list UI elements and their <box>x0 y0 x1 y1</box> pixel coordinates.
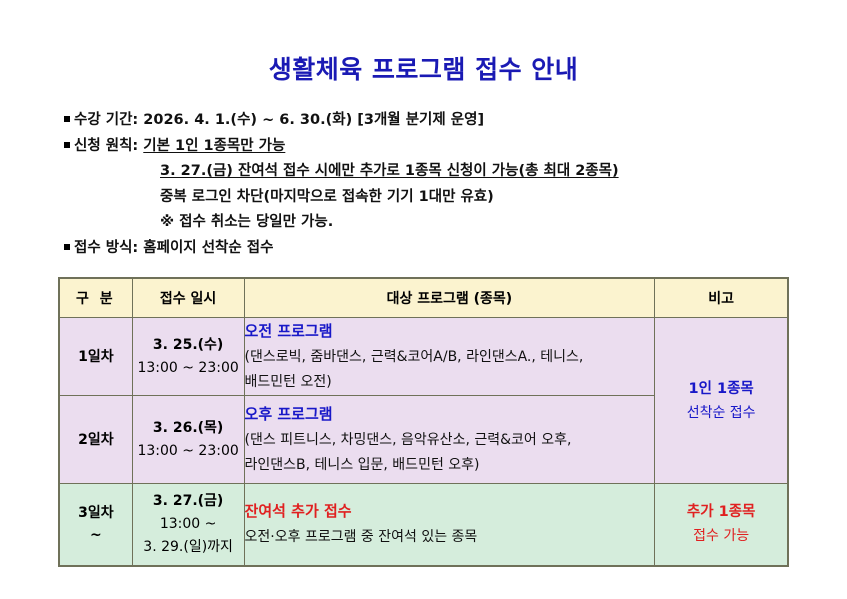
notice-line-period: 수강 기간: 2026. 4. 1.(수) ~ 6. 30.(화) [3개월 분… <box>64 108 784 134</box>
date-sub-day1: 13:00 ~ 23:00 <box>133 357 244 380</box>
cell-gubun-day1: 1일차 <box>59 318 132 396</box>
cell-gubun-day3: 3일차 ~ <box>59 484 132 566</box>
notice-label-method: 접수 방식: <box>74 240 138 256</box>
notice-value-rule: 기본 1인 1종목만 가능 <box>143 138 285 154</box>
notice-text-login: 중복 로그인 차단(마지막으로 접속한 기기 1대만 유효) <box>160 189 494 205</box>
notice-block: 수강 기간: 2026. 4. 1.(수) ~ 6. 30.(화) [3개월 분… <box>64 108 784 261</box>
bullet-square-icon <box>64 142 70 148</box>
program-head-day3: 잔여석 추가 접수 <box>245 499 655 524</box>
notice-label-period: 수강 기간: <box>74 112 138 128</box>
bullet-square-icon <box>64 116 70 122</box>
notice-value-method: 홈페이지 선착순 접수 <box>143 240 273 256</box>
schedule-table: 구 분 접수 일시 대상 프로그램 (종목) 비고 1일차 3. 25.(수) … <box>58 277 789 567</box>
notice-text-extra: 3. 27.(금) 잔여석 접수 시에만 추가로 1종목 신청이 가능(총 최대… <box>160 163 619 179</box>
program-head-day2: 오후 프로그램 <box>245 402 655 427</box>
date-sub2-day3: 3. 29.(일)까지 <box>133 536 244 559</box>
date-main-day2: 3. 26.(목) <box>133 417 244 440</box>
notice-line-method: 접수 방식: 홈페이지 선착순 접수 <box>64 236 784 262</box>
notice-value-period: 2026. 4. 1.(수) ~ 6. 30.(화) [3개월 분기제 운영] <box>143 112 484 128</box>
program-body-day3-line1: 오전·오후 프로그램 중 잔여석 있는 종목 <box>245 525 655 550</box>
program-body-day2-line1: (댄스 피트니스, 차밍댄스, 음악유산소, 근력&코어 오후, <box>245 428 655 453</box>
document-page: 생활체육 프로그램 접수 안내 수강 기간: 2026. 4. 1.(수) ~ … <box>0 0 847 599</box>
bullet-square-icon <box>64 244 70 250</box>
notice-line-login: 중복 로그인 차단(마지막으로 접속한 기기 1대만 유효) <box>64 185 784 211</box>
notice-label-rule: 신청 원칙: <box>74 138 138 154</box>
col-header-gubun: 구 분 <box>59 278 132 318</box>
cell-remark-merged: 1인 1종목 선착순 접수 <box>655 318 788 484</box>
gubun-day3-line2: ~ <box>60 524 132 546</box>
col-header-program: 대상 프로그램 (종목) <box>244 278 655 318</box>
schedule-table-wrapper: 구 분 접수 일시 대상 프로그램 (종목) 비고 1일차 3. 25.(수) … <box>58 277 789 567</box>
date-main-day1: 3. 25.(수) <box>133 334 244 357</box>
gubun-day3-line1: 3일차 <box>60 502 132 524</box>
col-header-remark: 비고 <box>655 278 788 318</box>
notice-line-extra: 3. 27.(금) 잔여석 접수 시에만 추가로 1종목 신청이 가능(총 최대… <box>64 159 784 185</box>
date-main-day3: 3. 27.(금) <box>133 490 244 513</box>
notice-text-cancel: ※ 접수 취소는 당일만 가능. <box>160 214 333 230</box>
cell-gubun-day2: 2일차 <box>59 396 132 484</box>
remark-sub-merged: 선착순 접수 <box>655 401 787 425</box>
col-header-date: 접수 일시 <box>132 278 244 318</box>
cell-date-day3: 3. 27.(금) 13:00 ~ 3. 29.(일)까지 <box>132 484 244 566</box>
notice-line-cancel: ※ 접수 취소는 당일만 가능. <box>64 210 784 236</box>
table-header-row: 구 분 접수 일시 대상 프로그램 (종목) 비고 <box>59 278 788 318</box>
page-title: 생활체육 프로그램 접수 안내 <box>0 50 847 86</box>
remark-strong-merged: 1인 1종목 <box>655 377 787 401</box>
remark-strong-day3: 추가 1종목 <box>655 500 787 524</box>
cell-program-day1: 오전 프로그램 (댄스로빅, 줌바댄스, 근력&코어A/B, 라인댄스A., 테… <box>244 318 655 396</box>
notice-line-rule: 신청 원칙: 기본 1인 1종목만 가능 <box>64 134 784 160</box>
program-body-day1-line2: 배드민턴 오전) <box>245 370 655 395</box>
program-head-day1: 오전 프로그램 <box>245 319 655 344</box>
cell-date-day2: 3. 26.(목) 13:00 ~ 23:00 <box>132 396 244 484</box>
table-row: 1일차 3. 25.(수) 13:00 ~ 23:00 오전 프로그램 (댄스로… <box>59 318 788 396</box>
cell-program-day2: 오후 프로그램 (댄스 피트니스, 차밍댄스, 음악유산소, 근력&코어 오후,… <box>244 396 655 484</box>
cell-date-day1: 3. 25.(수) 13:00 ~ 23:00 <box>132 318 244 396</box>
date-sub1-day3: 13:00 ~ <box>133 513 244 536</box>
cell-program-day3: 잔여석 추가 접수 오전·오후 프로그램 중 잔여석 있는 종목 <box>244 484 655 566</box>
table-row: 3일차 ~ 3. 27.(금) 13:00 ~ 3. 29.(일)까지 잔여석 … <box>59 484 788 566</box>
program-body-day2-line2: 라인댄스B, 테니스 입문, 배드민턴 오후) <box>245 453 655 478</box>
remark-sub-day3: 접수 가능 <box>655 524 787 548</box>
cell-remark-day3: 추가 1종목 접수 가능 <box>655 484 788 566</box>
date-sub-day2: 13:00 ~ 23:00 <box>133 440 244 463</box>
program-body-day1-line1: (댄스로빅, 줌바댄스, 근력&코어A/B, 라인댄스A., 테니스, <box>245 345 655 370</box>
